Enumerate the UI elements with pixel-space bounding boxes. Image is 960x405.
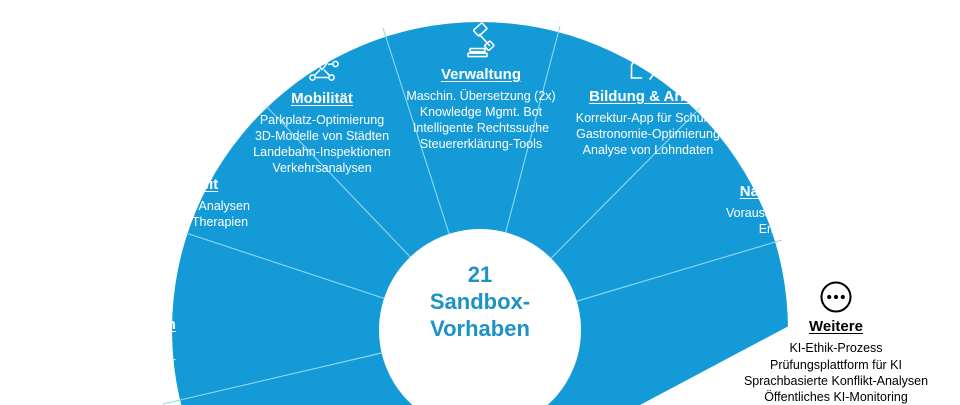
center-label: 21 Sandbox- Vorhaben bbox=[380, 262, 580, 342]
ellipsis-circle-icon bbox=[817, 278, 855, 316]
segment-weitere[interactable]: Weitere KI-Ethik-Prozess Prüfungsplattfo… bbox=[712, 278, 960, 405]
center-line-3: Vorhaben bbox=[380, 316, 580, 343]
segment-items: KI-Ethik-Prozess Prüfungsplattform für K… bbox=[712, 340, 960, 405]
segment-item: Prüfungsplattform für KI bbox=[712, 357, 960, 373]
segment-item: Öffentliches KI-Monitoring bbox=[712, 389, 960, 405]
segment-item: KI-Ethik-Prozess bbox=[712, 340, 960, 356]
segment-title: Weitere bbox=[712, 318, 960, 335]
diagram-canvas: Autonomes Fahren Selbstfahrender Traktor… bbox=[0, 0, 960, 405]
center-count: 21 bbox=[380, 262, 580, 289]
center-line-2: Sandbox- bbox=[380, 289, 580, 316]
segment-item: Sprachbasierte Konflikt-Analysen bbox=[712, 373, 960, 389]
